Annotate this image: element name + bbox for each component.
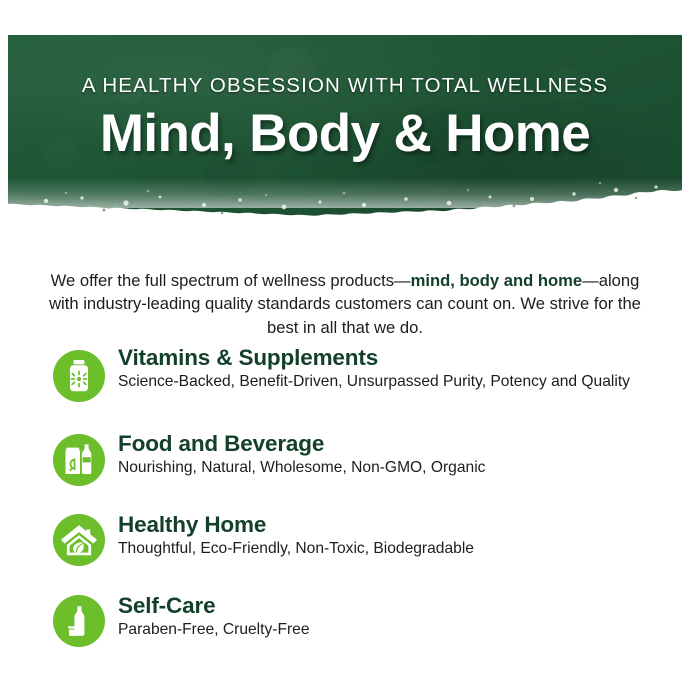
hero-title: Mind, Body & Home — [8, 106, 682, 162]
feature-item-self-care: Self-Care Paraben-Free, Cruelty-Free — [0, 593, 690, 649]
hero-eyebrow: A HEALTHY OBSESSION WITH TOTAL WELLNESS — [8, 76, 682, 97]
feature-description-vitamins-supplements: Science-Backed, Benefit-Driven, Unsurpas… — [118, 372, 638, 393]
feature-item-food-and-beverage: Food and Beverage Nourishing, Natural, W… — [0, 431, 690, 487]
intro-part-1: We offer the full spectrum of wellness p… — [51, 271, 411, 290]
supplement-bottle-icon — [53, 350, 105, 402]
food-pouch-and-beverage-bottle-icon — [53, 434, 105, 486]
house-with-leaf-icon — [53, 514, 105, 566]
feature-item-healthy-home: Healthy Home Thoughtful, Eco-Friendly, N… — [0, 512, 690, 568]
feature-title-self-care: Self-Care — [118, 593, 690, 619]
intro-paragraph: We offer the full spectrum of wellness p… — [45, 269, 645, 340]
feature-list: Vitamins & Supplements Science-Backed, B… — [0, 345, 690, 649]
feature-title-food-and-beverage: Food and Beverage — [118, 431, 690, 457]
intro-emphasis: mind, body and home — [411, 271, 582, 290]
hero-banner: A HEALTHY OBSESSION WITH TOTAL WELLNESS … — [8, 35, 682, 225]
feature-title-vitamins-supplements: Vitamins & Supplements — [118, 345, 690, 371]
feature-description-self-care: Paraben-Free, Cruelty-Free — [118, 620, 638, 641]
feature-description-healthy-home: Thoughtful, Eco-Friendly, Non-Toxic, Bio… — [118, 539, 638, 560]
lotion-bottle-and-jar-icon — [53, 595, 105, 647]
feature-title-healthy-home: Healthy Home — [118, 512, 690, 538]
feature-description-food-and-beverage: Nourishing, Natural, Wholesome, Non-GMO,… — [118, 458, 638, 479]
wellness-infographic: A HEALTHY OBSESSION WITH TOTAL WELLNESS … — [0, 0, 690, 700]
hero-text-block: A HEALTHY OBSESSION WITH TOTAL WELLNESS … — [8, 76, 682, 161]
feature-item-vitamins-supplements: Vitamins & Supplements Science-Backed, B… — [0, 345, 690, 407]
torn-paper-edge — [8, 164, 682, 225]
